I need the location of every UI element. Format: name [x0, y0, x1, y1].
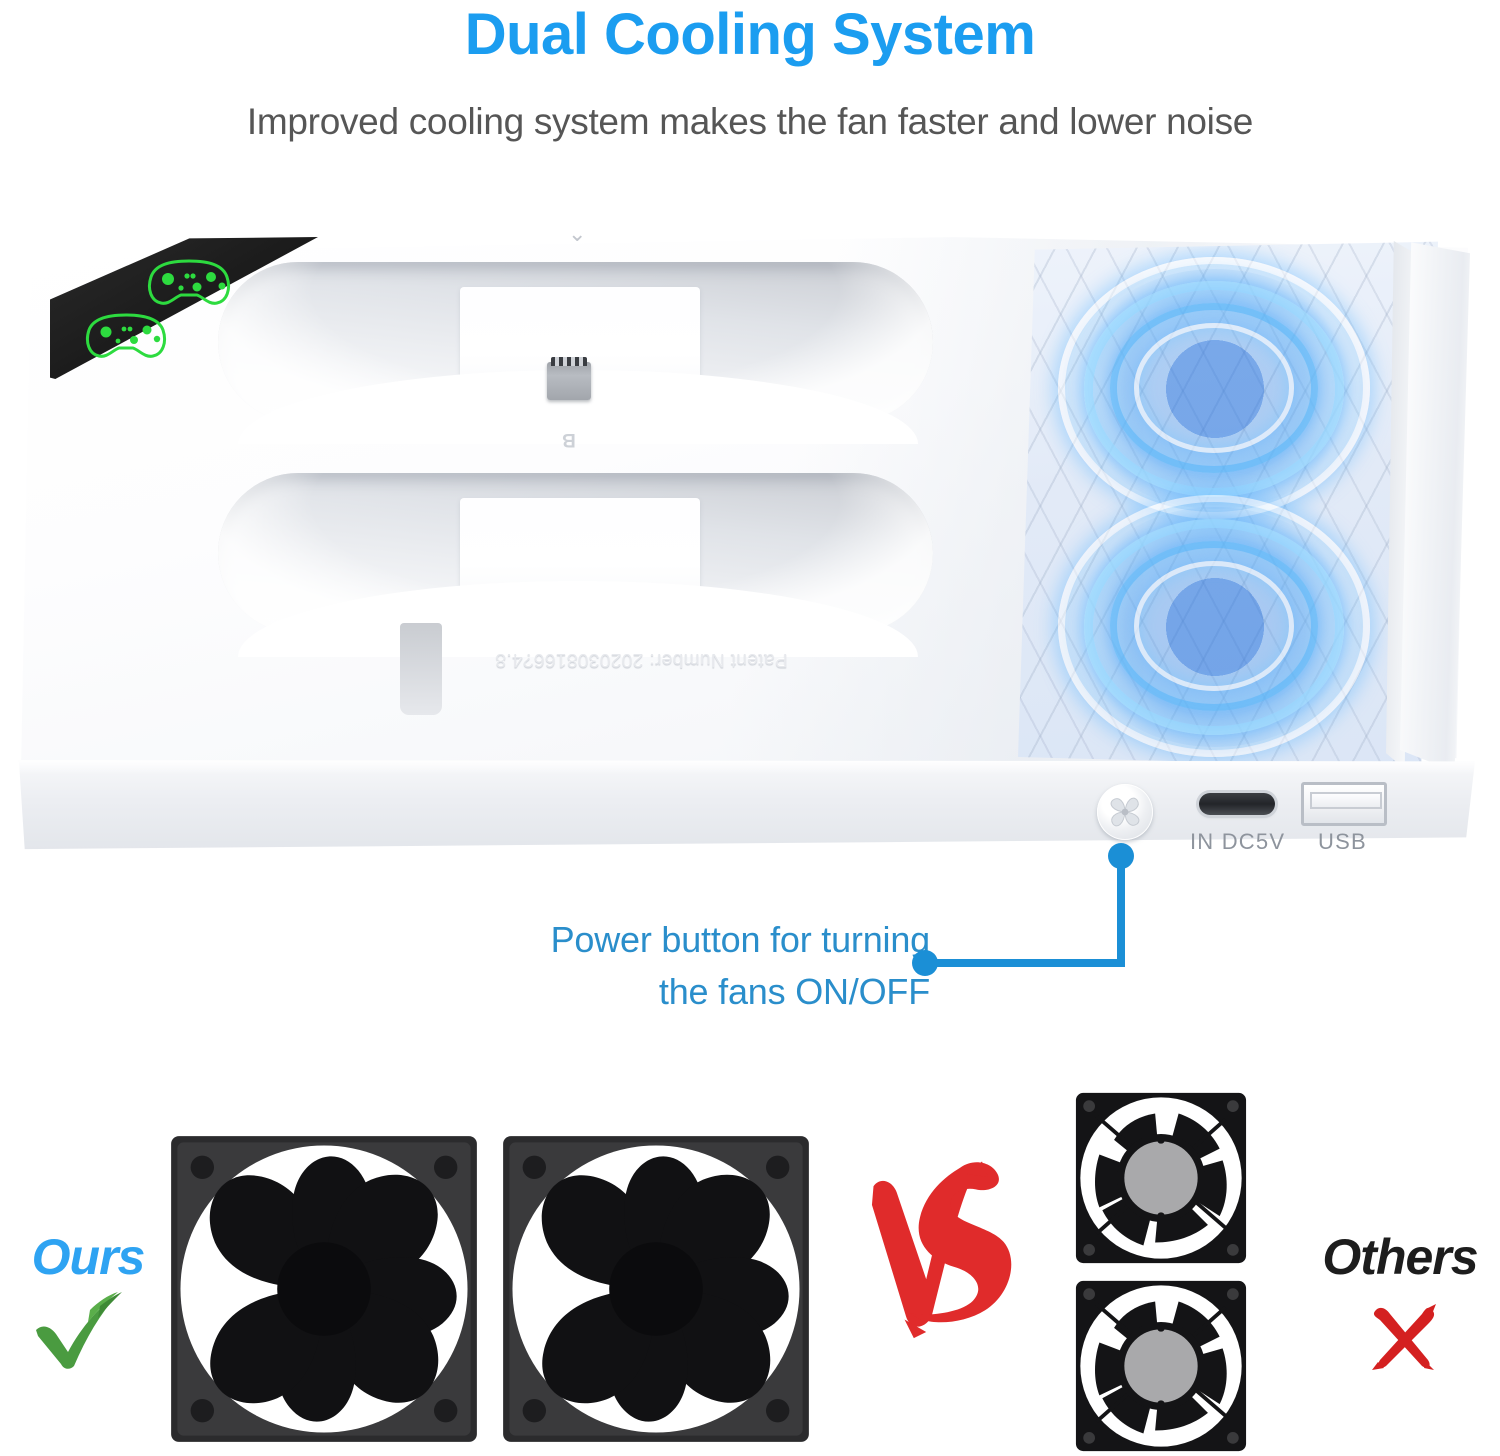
vs-brush-icon — [858, 1152, 1044, 1365]
callout-line-1: Power button for turning — [370, 914, 930, 966]
power-button[interactable] — [1097, 784, 1153, 840]
ours-fan-right — [500, 1133, 812, 1450]
charging-contact-block — [547, 362, 591, 400]
slot-letter-mark: B — [562, 430, 576, 449]
usb-a-output-port[interactable] — [1301, 782, 1387, 826]
fan-motion-ring — [1134, 561, 1294, 691]
controller-icon — [75, 310, 177, 364]
ours-label: Ours — [8, 1228, 168, 1286]
controller-icon — [135, 255, 243, 311]
patent-number-text: Patent Number: 2020308166?4.8 — [495, 648, 788, 670]
others-fan-top — [1073, 1090, 1249, 1271]
fan-motion-ring — [1134, 323, 1294, 453]
dock-front-highlight — [13, 760, 1475, 774]
fan-blade-icon — [1097, 784, 1153, 840]
page-title: Dual Cooling System — [0, 2, 1500, 69]
ours-fan-left — [168, 1133, 480, 1450]
others-fan-bottom — [1073, 1278, 1249, 1456]
page-subtitle: Improved cooling system makes the fan fa… — [0, 100, 1500, 144]
power-button-callout: Power button for turning the fans ON/OFF — [370, 914, 930, 1018]
product-photo: ⌄ B Patent Number: 2020308166?4.8 — [0, 215, 1500, 885]
green-check-icon — [30, 1290, 125, 1375]
alignment-chevron-icon: ⌄ — [568, 223, 586, 245]
others-label: Others — [1300, 1228, 1500, 1286]
product-marketing-image: Dual Cooling System Improved cooling sys… — [0, 0, 1500, 1456]
usb-c-input-port[interactable] — [1199, 793, 1275, 815]
cable-hook-tab — [400, 623, 442, 715]
callout-line-vertical — [1117, 855, 1125, 965]
red-x-icon — [1368, 1300, 1442, 1379]
dual-fan-grille — [1018, 239, 1438, 773]
callout-line-horizontal — [925, 959, 1125, 967]
dock-side-fin — [1400, 237, 1470, 777]
usb-a-port-label: USB — [1318, 829, 1367, 855]
callout-line-2: the fans ON/OFF — [370, 966, 930, 1018]
usb-c-port-label: IN DC5V — [1190, 829, 1285, 855]
callout-dot-at-power-button — [1108, 843, 1134, 869]
